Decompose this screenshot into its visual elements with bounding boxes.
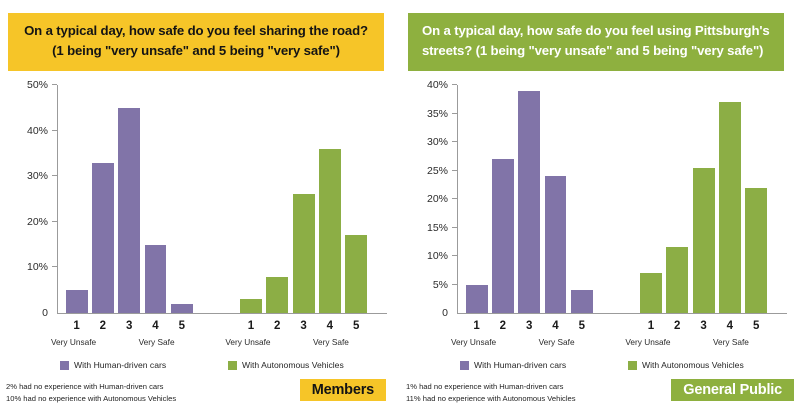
legend-swatch-green-icon — [628, 361, 637, 370]
y-axis-tick-mark — [52, 130, 57, 131]
x-axis-high-label: Very Safe — [127, 337, 187, 347]
bar — [570, 290, 594, 313]
y-axis-tick-label: 10% — [400, 250, 457, 262]
x-axis-number: 5 — [744, 320, 768, 332]
bar — [117, 108, 141, 313]
y-axis-tick-label: 50% — [0, 79, 57, 91]
panel-header-general-public: On a typical day, how safe do you feel u… — [408, 13, 784, 71]
bar — [465, 285, 489, 314]
bar — [517, 91, 541, 313]
y-axis-tick-label: 30% — [400, 136, 457, 148]
x-labels-autonomous: 12345Very UnsafeVery Safe — [639, 320, 771, 356]
x-labels-human-driven: 12345Very UnsafeVery Safe — [65, 320, 197, 356]
legend-item-human-driven: With Human-driven cars — [60, 360, 166, 370]
y-axis-tick-mark — [52, 266, 57, 267]
x-axis-line — [57, 313, 387, 314]
bar — [239, 299, 263, 313]
legend-label-human-driven: With Human-driven cars — [474, 360, 566, 370]
footnotes-members: 2% had no experience with Human-driven c… — [6, 381, 176, 406]
y-axis-tick-label: 25% — [400, 165, 457, 177]
y-axis-tick-label: 0 — [0, 307, 57, 319]
footnote-line: 1% had no experience with Human-driven c… — [406, 381, 576, 393]
x-axis-high-label: Very Safe — [701, 337, 761, 347]
bar — [91, 163, 115, 313]
y-axis-tick-mark — [452, 284, 457, 285]
bar-groups — [458, 85, 787, 313]
x-axis-number: 3 — [117, 320, 141, 332]
y-axis-tick-label: 0 — [400, 307, 457, 319]
audience-badge-general-public: General Public — [671, 379, 794, 401]
y-axis-tick-mark — [52, 84, 57, 85]
header-line-1: On a typical day, how safe do you feel s… — [24, 23, 368, 38]
y-axis-tick-mark — [52, 221, 57, 222]
legend-item-autonomous: With Autonomous Vehicles — [228, 360, 344, 370]
y-axis-tick-label: 20% — [400, 193, 457, 205]
bar-group-human-driven — [65, 85, 197, 313]
chart-members: 50%40%30%20%10%0 — [0, 78, 400, 318]
bar — [718, 102, 742, 313]
x-axis-low-label: Very Unsafe — [44, 337, 104, 347]
panel-header-members: On a typical day, how safe do you feel s… — [8, 13, 384, 71]
legend-label-autonomous: With Autonomous Vehicles — [642, 360, 744, 370]
x-axis-number: 1 — [239, 320, 263, 332]
x-axis-number: 4 — [544, 320, 568, 332]
x-axis-number: 5 — [344, 320, 368, 332]
footnote-line: 11% had no experience with Autonomous Ve… — [406, 393, 576, 405]
y-axis-tick-mark — [452, 84, 457, 85]
y-axis-tick-mark — [452, 227, 457, 228]
footnote-line: 10% had no experience with Autonomous Ve… — [6, 393, 176, 405]
x-labels-autonomous: 12345Very UnsafeVery Safe — [239, 320, 371, 356]
bar — [170, 304, 194, 313]
legend-item-human-driven: With Human-driven cars — [460, 360, 566, 370]
legend-swatch-green-icon — [228, 361, 237, 370]
footnotes-general-public: 1% had no experience with Human-driven c… — [406, 381, 576, 406]
y-axis-tick-label: 10% — [0, 261, 57, 273]
y-axis-tick-label: 35% — [400, 108, 457, 120]
x-axis-high-label: Very Safe — [527, 337, 587, 347]
x-axis-number: 4 — [318, 320, 342, 332]
x-axis-labels: 12345Very UnsafeVery Safe 12345Very Unsa… — [458, 320, 787, 356]
bar — [639, 273, 663, 313]
x-axis-number: 2 — [91, 320, 115, 332]
legend-label-human-driven: With Human-driven cars — [74, 360, 166, 370]
x-axis-number: 2 — [265, 320, 289, 332]
x-axis-high-label: Very Safe — [301, 337, 361, 347]
x-axis-number: 2 — [491, 320, 515, 332]
x-axis-low-label: Very Unsafe — [218, 337, 278, 347]
bar — [292, 194, 316, 313]
bar — [265, 277, 289, 313]
x-axis-line — [457, 313, 787, 314]
y-axis-tick-label: 40% — [400, 79, 457, 91]
y-axis-tick-mark — [452, 170, 457, 171]
legend-swatch-purple-icon — [460, 361, 469, 370]
bar-groups — [58, 85, 387, 313]
legend-item-autonomous: With Autonomous Vehicles — [628, 360, 744, 370]
x-labels-human-driven: 12345Very UnsafeVery Safe — [465, 320, 597, 356]
y-axis-tick-mark — [452, 198, 457, 199]
legend-label-autonomous: With Autonomous Vehicles — [242, 360, 344, 370]
x-axis-number: 3 — [292, 320, 316, 332]
x-axis-number: 3 — [517, 320, 541, 332]
x-axis-number: 5 — [170, 320, 194, 332]
bar — [544, 176, 568, 313]
bar-group-autonomous — [639, 85, 771, 313]
bar — [144, 245, 168, 313]
footnote-line: 2% had no experience with Human-driven c… — [6, 381, 176, 393]
x-axis-low-label: Very Unsafe — [618, 337, 678, 347]
bar — [344, 235, 368, 313]
bar — [65, 290, 89, 313]
y-axis-tick-label: 5% — [400, 279, 457, 291]
bar — [744, 188, 768, 313]
chart-legend-members: With Human-driven cars With Autonomous V… — [0, 360, 400, 374]
panel-members: On a typical day, how safe do you feel s… — [0, 0, 400, 419]
x-axis-number: 3 — [692, 320, 716, 332]
bar — [491, 159, 515, 313]
x-axis-number: 2 — [665, 320, 689, 332]
infographic-page: On a typical day, how safe do you feel s… — [0, 0, 800, 419]
y-axis-tick-label: 30% — [0, 170, 57, 182]
bar — [665, 247, 689, 313]
y-axis-tick-label: 15% — [400, 222, 457, 234]
header-line-2: (1 being "very unsafe" and 5 being "very… — [14, 41, 378, 61]
chart-general-public: 40%35%30%25%20%15%10%5%0 — [400, 78, 800, 318]
x-axis-number: 1 — [65, 320, 89, 332]
y-axis-tick-mark — [452, 113, 457, 114]
x-axis-labels: 12345Very UnsafeVery Safe 12345Very Unsa… — [58, 320, 387, 356]
header-line-1: On a typical day, how safe do you feel u… — [422, 23, 770, 38]
y-axis-tick-mark — [452, 141, 457, 142]
bar-group-autonomous — [239, 85, 371, 313]
y-axis-tick-label: 40% — [0, 125, 57, 137]
panel-general-public: On a typical day, how safe do you feel u… — [400, 0, 800, 419]
bar — [692, 168, 716, 313]
y-axis-tick-label: 20% — [0, 216, 57, 228]
x-axis-number: 1 — [639, 320, 663, 332]
y-axis-tick-mark — [452, 255, 457, 256]
x-axis-number: 5 — [570, 320, 594, 332]
x-axis-low-label: Very Unsafe — [444, 337, 504, 347]
legend-swatch-purple-icon — [60, 361, 69, 370]
audience-badge-members: Members — [300, 379, 386, 401]
x-axis-number: 4 — [144, 320, 168, 332]
x-axis-number: 1 — [465, 320, 489, 332]
x-axis-number: 4 — [718, 320, 742, 332]
bar — [318, 149, 342, 313]
header-line-2: streets? (1 being "very unsafe" and 5 be… — [422, 41, 778, 61]
y-axis-tick-mark — [52, 175, 57, 176]
bar-group-human-driven — [465, 85, 597, 313]
chart-legend-general-public: With Human-driven cars With Autonomous V… — [400, 360, 800, 374]
